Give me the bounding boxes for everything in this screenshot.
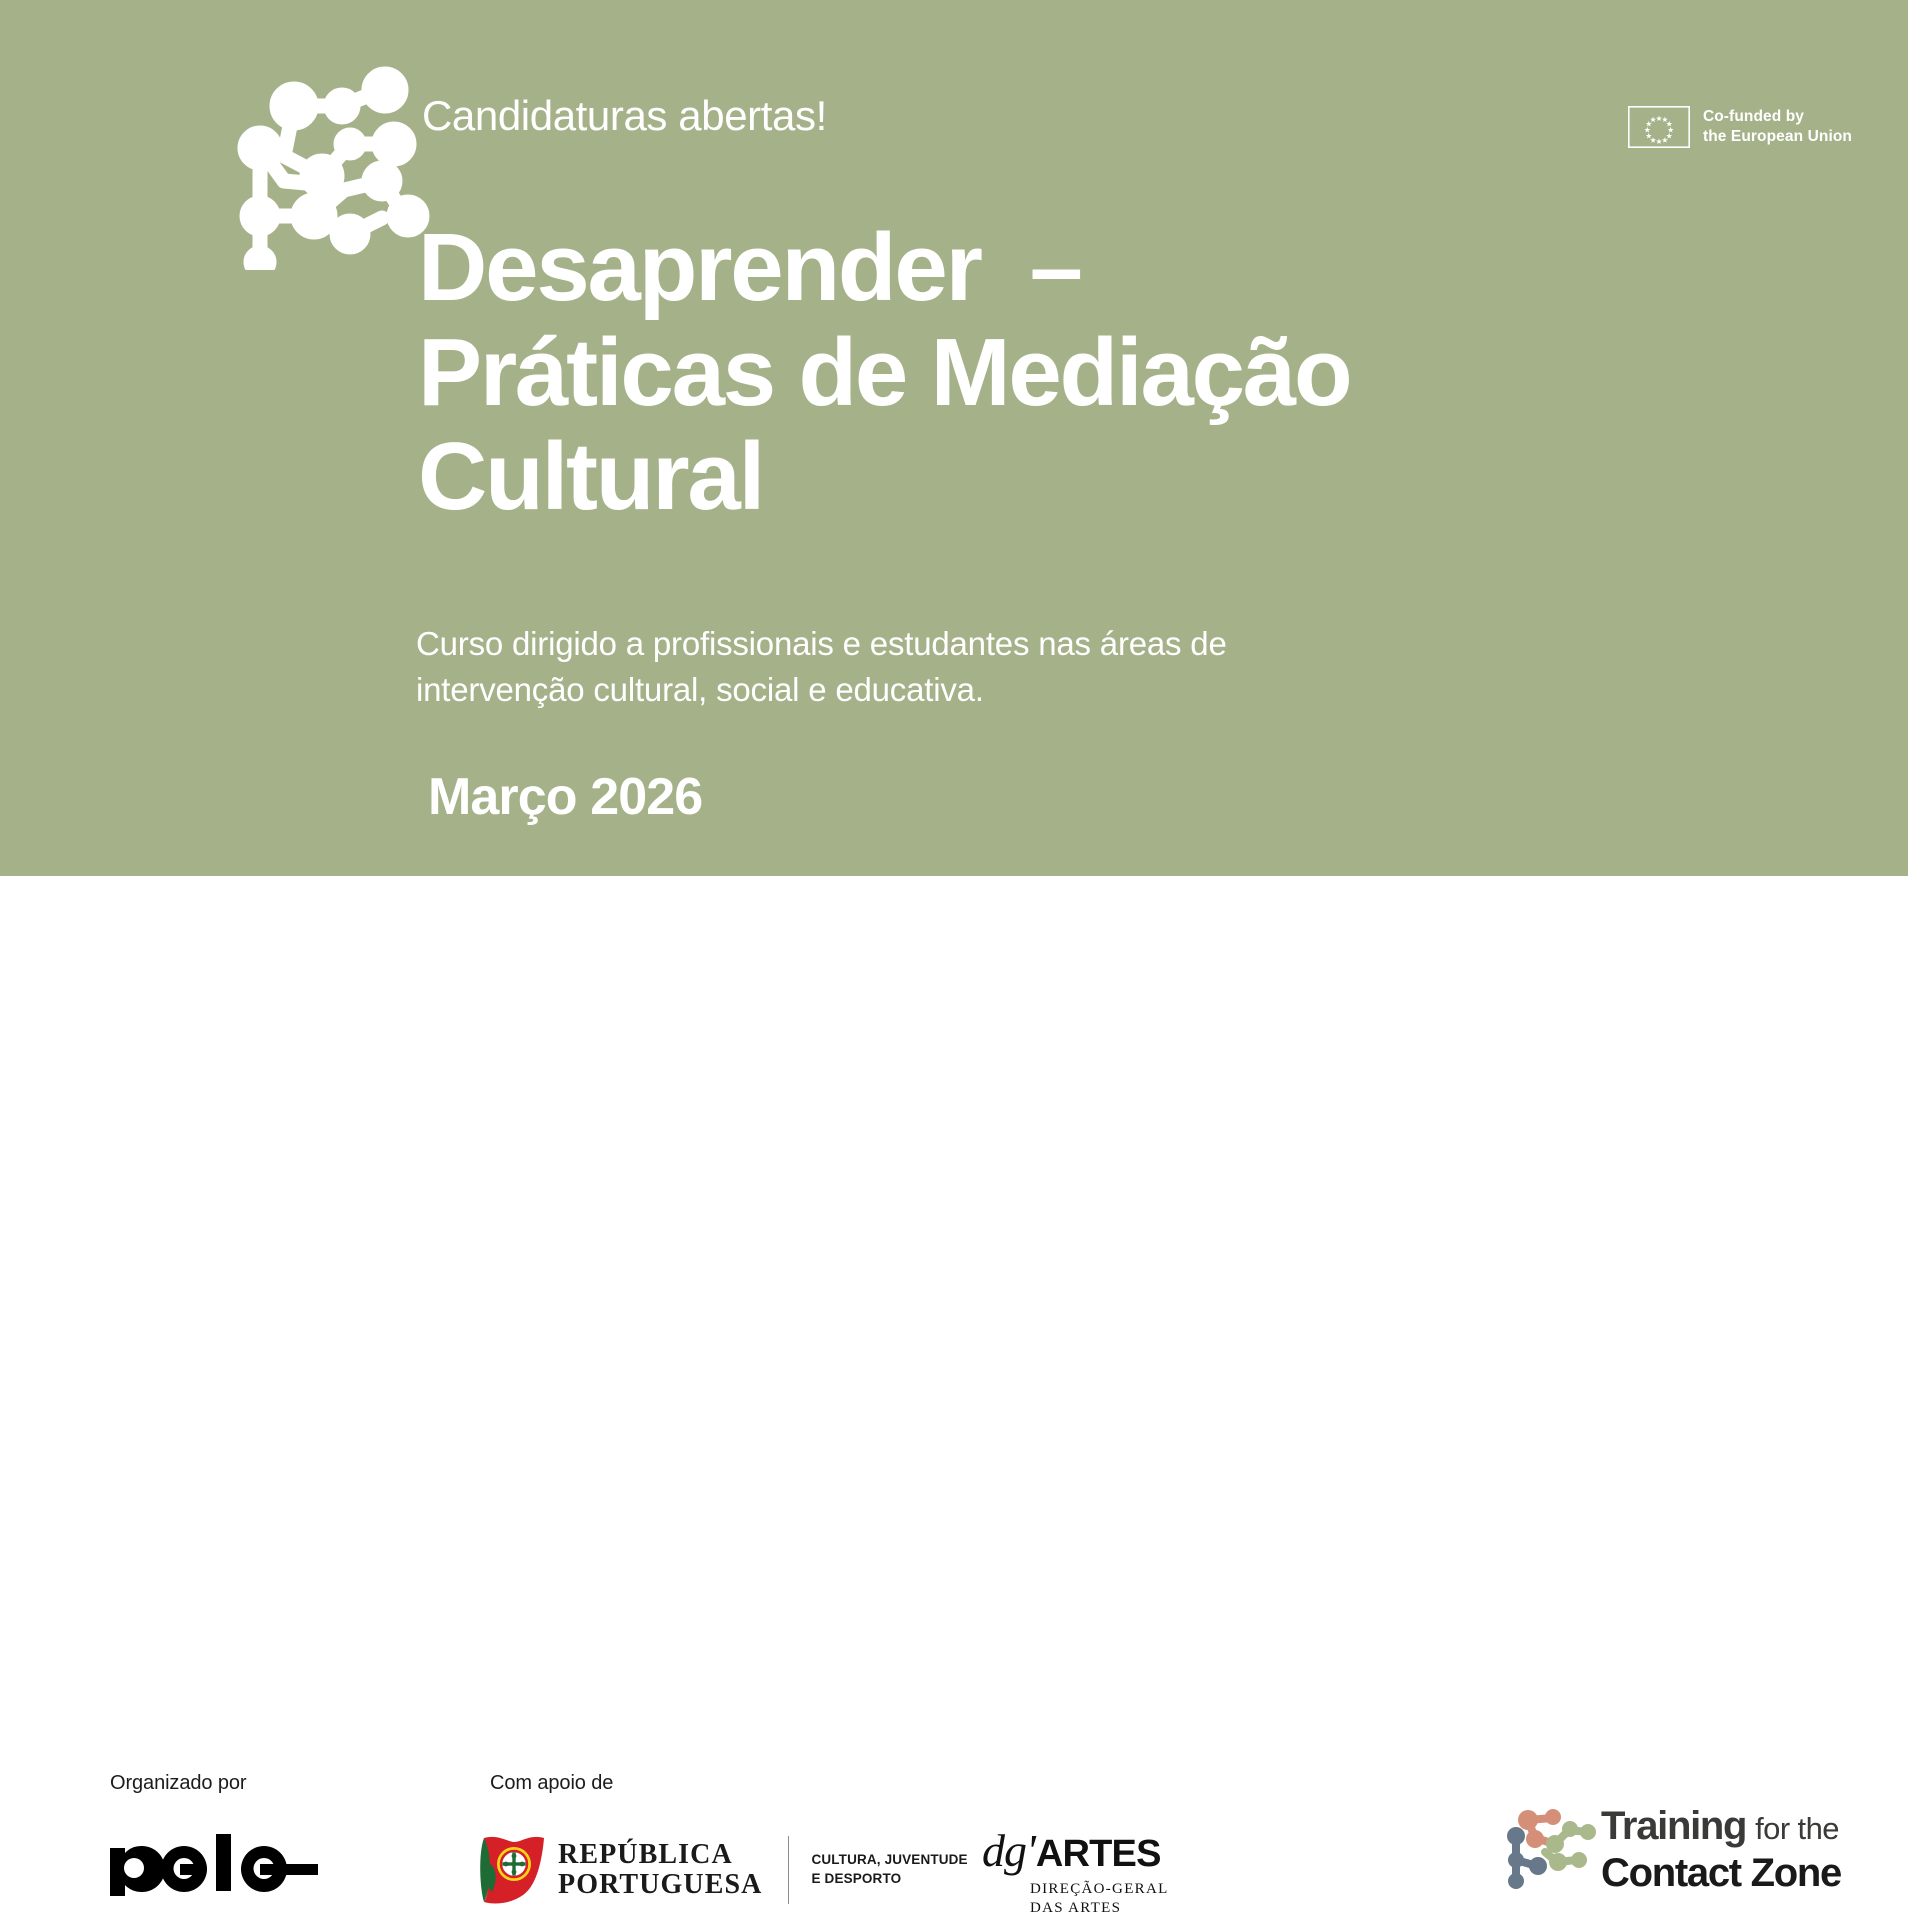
eu-cofunding-badge: Co-funded by the European Union bbox=[1628, 106, 1852, 148]
page-title: Desaprender – Práticas de Mediação Cultu… bbox=[418, 216, 1618, 530]
tcz-contact-zone-text: Contact Zone bbox=[1601, 1853, 1841, 1893]
dgartes-artes-text: ARTES bbox=[1036, 1835, 1161, 1873]
footer-bar: Organizado por Com apoio de bbox=[0, 876, 1920, 1080]
tcz-line-1: Training for the bbox=[1601, 1806, 1841, 1846]
divider bbox=[788, 1836, 789, 1904]
pele-logo[interactable] bbox=[108, 1834, 323, 1896]
subtitle-line-2: intervenção cultural, social e educativa… bbox=[416, 667, 1556, 713]
dgartes-monogram: dg' bbox=[982, 1828, 1035, 1874]
ministry-department-label: CULTURA, JUVENTUDE E DESPORTO bbox=[811, 1851, 967, 1888]
node-network-mark bbox=[222, 66, 434, 270]
organized-by-label: Organizado por bbox=[110, 1772, 246, 1795]
node-network-mark-colored bbox=[1505, 1804, 1597, 1894]
supported-by-label: Com apoio de bbox=[490, 1772, 613, 1795]
european-union-flag-icon bbox=[1628, 106, 1690, 148]
portugal-coat-of-arms-icon bbox=[478, 1832, 550, 1908]
dgartes-wordmark: dg' ARTES bbox=[982, 1828, 1182, 1874]
hero-panel: Candidaturas abertas! Desaprender – Prát… bbox=[0, 0, 1908, 876]
kicker-text: Candidaturas abertas! bbox=[422, 92, 827, 140]
republica-portuguesa-logo[interactable]: REPÚBLICA PORTUGUESA CULTURA, JUVENTUDE … bbox=[478, 1831, 968, 1909]
tcz-for-the-text: for the bbox=[1755, 1813, 1839, 1844]
republica-portuguesa-wordmark: REPÚBLICA PORTUGUESA bbox=[558, 1840, 762, 1899]
headline-line-3: Cultural bbox=[418, 425, 1618, 530]
eu-badge-text: Co-funded by the European Union bbox=[1703, 107, 1852, 147]
dgartes-logo[interactable]: dg' ARTES DIREÇÃO-GERAL DAS ARTES bbox=[982, 1828, 1182, 1918]
tcz-wordmark: Training for the Contact Zone bbox=[1601, 1806, 1841, 1893]
dgartes-subtitle: DIREÇÃO-GERAL DAS ARTES bbox=[1030, 1880, 1182, 1918]
event-date: Março 2026 bbox=[428, 767, 702, 827]
training-for-the-contact-zone-logo[interactable]: Training for the Contact Zone bbox=[1505, 1804, 1841, 1894]
headline-line-2: Práticas de Mediação bbox=[418, 321, 1618, 426]
headline-line-1: Desaprender – bbox=[418, 216, 1618, 321]
subtitle-line-1: Curso dirigido a profissionais e estudan… bbox=[416, 621, 1556, 667]
subtitle: Curso dirigido a profissionais e estudan… bbox=[416, 621, 1556, 712]
tcz-training-text: Training bbox=[1601, 1806, 1746, 1846]
